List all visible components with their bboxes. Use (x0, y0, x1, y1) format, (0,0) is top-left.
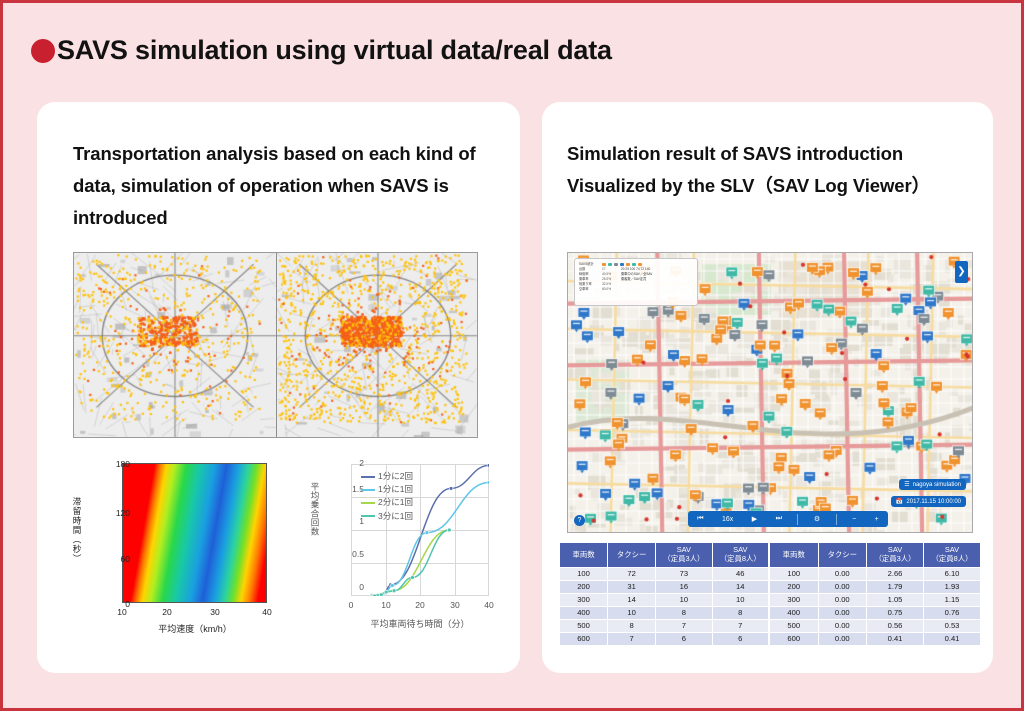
heatmap-xtick-10: 10 (110, 607, 134, 617)
table-row: 300141010 (560, 593, 769, 606)
table-header-cell-1: タクシー (818, 543, 867, 568)
table-cell: 1.79 (867, 580, 924, 593)
table-header-cell-2: SAV（定員3人） (867, 543, 924, 568)
table-cell: 300 (770, 593, 819, 606)
vehicle-icon (608, 263, 612, 266)
table-header-cell-1: タクシー (608, 543, 656, 568)
red-circle-bullet-icon (31, 39, 55, 63)
table-row: 2000.001.791.93 (770, 580, 981, 593)
density-map-right (276, 253, 478, 437)
table-header-line: 車両数 (770, 550, 818, 559)
linechart-xtick-40: 40 (478, 600, 500, 610)
table-header-line: （定員8人） (713, 554, 768, 563)
vehicle-icon (626, 263, 630, 266)
speed-dwell-heatmap: 0 60 120 180 10 20 30 40 滞留時間（秒） 平均速度（km… (67, 457, 282, 647)
legend-item-3: 3分に1回 (361, 510, 413, 523)
table-cell: 500 (770, 619, 819, 632)
table-header-line: SAV (713, 545, 768, 554)
linechart-point (425, 531, 429, 535)
skip-back-icon[interactable]: ⏮ (694, 515, 706, 523)
overlay-stat-row-4: 空車率60.0% (579, 287, 693, 292)
linechart-line-3 (374, 530, 449, 596)
table-row: 4001088 (560, 606, 769, 619)
table-cell: 6 (656, 632, 712, 645)
linechart-ytick-1: 1 (334, 516, 364, 526)
table-cell: 10 (656, 593, 712, 606)
calendar-icon: 📅 (896, 498, 903, 505)
table-cell: 500 (560, 619, 608, 632)
simulation-name-text: nagoya simulation (913, 482, 961, 488)
linechart-point (379, 593, 383, 596)
right-panel: Simulation result of SAVS introduction V… (542, 102, 993, 673)
legend-swatch-icon (361, 476, 375, 478)
table-cell: 100 (770, 567, 819, 580)
vehicle-icon (602, 263, 606, 266)
table-cell: 14 (712, 580, 768, 593)
dual-density-map-figure (73, 252, 478, 438)
table-header-cell-3: SAV（定員8人） (712, 543, 768, 568)
legend-item-1: 1分に1回 (361, 483, 413, 496)
table-header-row: 車両数タクシーSAV（定員3人）SAV（定員8人） (770, 543, 981, 568)
table-row: 3000.001.051.15 (770, 593, 981, 606)
overlay-stat-key: 空車率 (579, 287, 599, 292)
table-header-line: タクシー (819, 550, 867, 559)
page-title: SAVS simulation using virtual data/real … (31, 35, 612, 66)
table-cell: 0.76 (924, 606, 981, 619)
legend-label: 3分に1回 (378, 510, 413, 523)
table-cell: 14 (608, 593, 656, 606)
table-cell: 0.00 (818, 606, 867, 619)
table-cell: 0.00 (818, 567, 867, 580)
chevron-right-icon[interactable]: ❯ (955, 261, 968, 283)
table-cell: 0.00 (818, 632, 867, 645)
table-cell: 8 (712, 606, 768, 619)
table-cell: 8 (608, 619, 656, 632)
table-header-cell-2: SAV（定員3人） (656, 543, 712, 568)
ride-sharing-table: 車両数タクシーSAV（定員3人）SAV（定員8人） 1000.002.666.1… (769, 542, 981, 646)
vehicle-icon (638, 263, 642, 266)
table-cell: 100 (560, 567, 608, 580)
legend-item-2: 2分に1回 (361, 496, 413, 509)
table-cell: 0.00 (818, 593, 867, 606)
table-cell: 400 (770, 606, 819, 619)
linechart-x-axis-label: 平均車両待ち時間（分） (335, 617, 505, 630)
table-cell: 31 (608, 580, 656, 593)
linechart-point (411, 576, 415, 580)
table-cell: 1.15 (924, 593, 981, 606)
linechart-ytick-0: 0 (334, 582, 364, 592)
table-cell: 6 (712, 632, 768, 645)
table-cell: 300 (560, 593, 608, 606)
table-header-line: 車両数 (560, 550, 607, 559)
table-header-line: （定員3人） (867, 554, 923, 563)
table-cell: 0.56 (867, 619, 924, 632)
heatmap-x-axis-label: 平均速度（km/h） (115, 622, 275, 635)
heatmap-ytick-120: 120 (100, 508, 130, 518)
page-title-text: SAVS simulation using virtual data/real … (57, 35, 612, 66)
table-left-body: 1007273462003116143001410104001088500877… (560, 567, 769, 645)
playback-toolbar[interactable]: ⏮ 16x ▶ ⏭ ⚙ − + (688, 511, 888, 527)
table-row: 600766 (560, 632, 769, 645)
slv-map-viewer[interactable]: SAVS統計台数1720 29 100 74 72 140稼働率40.0%乗車中… (567, 252, 973, 533)
table-cell: 0.75 (867, 606, 924, 619)
legend-label: 2分に1回 (378, 496, 413, 509)
heatmap-ytick-180: 180 (100, 459, 130, 469)
heatmap-ytick-60: 60 (100, 554, 130, 564)
waiting-time-ridesharing-linechart: 0 0.5 1 1.5 2 0 10 20 30 40 平均乗合回数 平均車両待… (299, 454, 514, 654)
heatmap-xtick-30: 30 (203, 607, 227, 617)
linechart-point (447, 528, 451, 532)
playback-speed-label[interactable]: 16x (719, 516, 736, 523)
linechart-ytick-1.5: 1.5 (334, 484, 364, 494)
linechart-xtick-20: 20 (409, 600, 431, 610)
density-map-left (74, 253, 276, 437)
linechart-xtick-30: 30 (444, 600, 466, 610)
table-cell: 0.41 (867, 632, 924, 645)
simulation-time-chip[interactable]: 📅 2017.11.15 10:00:00 (891, 496, 966, 507)
linechart-point (384, 590, 388, 594)
legend-swatch-icon (361, 502, 375, 504)
table-cell: 0.00 (818, 580, 867, 593)
table-row: 6000.000.410.41 (770, 632, 981, 645)
table-header-line: （定員8人） (924, 554, 980, 563)
play-icon[interactable]: ▶ (749, 515, 760, 523)
table-row: 5000.000.560.53 (770, 619, 981, 632)
overlay-stat-value: 60.0% (602, 287, 618, 292)
zoom-in-button[interactable]: + (872, 516, 882, 523)
simulation-name-chip[interactable]: ☰ nagoya simulation (899, 479, 966, 490)
linechart-ytick-0.5: 0.5 (334, 549, 364, 559)
gear-icon[interactable]: ⚙ (811, 515, 823, 523)
table-right-body: 1000.002.666.102000.001.791.933000.001.0… (770, 567, 981, 645)
table-cell: 2.66 (867, 567, 924, 580)
linechart-point (487, 464, 489, 467)
question-mark-icon[interactable]: ? (574, 515, 585, 526)
density-map-left-canvas (74, 253, 276, 437)
table-cell: 8 (656, 606, 712, 619)
left-panel-heading: Transportation analysis based on each ki… (73, 138, 503, 233)
legend-swatch-icon (361, 489, 375, 491)
table-cell: 200 (560, 580, 608, 593)
table-cell: 7 (608, 632, 656, 645)
linechart-point (391, 584, 395, 588)
table-header-cell-3: SAV（定員8人） (924, 543, 981, 568)
toolbar-divider (797, 514, 798, 525)
table-header-line: タクシー (608, 550, 655, 559)
table-cell: 46 (712, 567, 768, 580)
linechart-point (373, 594, 377, 596)
table-header-line: SAV (656, 545, 711, 554)
skip-forward-icon[interactable]: ⏭ (773, 515, 785, 523)
list-icon: ☰ (904, 481, 909, 488)
table-header-row: 車両数タクシーSAV（定員3人）SAV（定員8人） (560, 543, 769, 568)
slide-frame: SAVS simulation using virtual data/real … (0, 0, 1024, 711)
linechart-y-axis-label: 平均乗合回数 (309, 482, 321, 536)
simulation-time-text: 2017.11.15 10:00:00 (906, 499, 961, 505)
table-cell: 7 (712, 619, 768, 632)
legend-swatch-icon (361, 515, 375, 517)
savs-statistics-overlay: SAVS統計台数1720 29 100 74 72 140稼働率40.0%乗車中… (574, 258, 698, 306)
density-map-right-canvas (277, 253, 478, 437)
table-cell: 72 (608, 567, 656, 580)
linechart-ytick-2: 2 (334, 458, 364, 468)
table-header-cell-0: 車両数 (770, 543, 819, 568)
table-cell: 10 (608, 606, 656, 619)
table-cell: 0.00 (818, 619, 867, 632)
toolbar-divider-2 (836, 514, 837, 525)
legend-item-0: 1分に2回 (361, 470, 413, 483)
vehicle-icon (632, 263, 636, 266)
table-header-line: （定員3人） (656, 554, 711, 563)
linechart-xtick-0: 0 (340, 600, 362, 610)
table-cell: 600 (770, 632, 819, 645)
table-cell: 200 (770, 580, 819, 593)
table-header-line: SAV (924, 545, 980, 554)
table-cell: 10 (712, 593, 768, 606)
zoom-out-button[interactable]: − (849, 516, 859, 523)
table-row: 4000.000.750.76 (770, 606, 981, 619)
table-cell: 0.41 (924, 632, 981, 645)
vehicle-icon (620, 263, 624, 266)
overlay-stat-note: 乗客数／SAV定員 (621, 277, 646, 282)
waiting-time-table: 車両数タクシーSAV（定員3人）SAV（定員8人） 10072734620031… (559, 542, 769, 646)
legend-label: 1分に1回 (378, 483, 413, 496)
table-cell: 16 (656, 580, 712, 593)
table-cell: 6.10 (924, 567, 981, 580)
vehicle-icon (614, 263, 618, 266)
table-cell: 0.53 (924, 619, 981, 632)
heatmap-xtick-20: 20 (155, 607, 179, 617)
linechart-point (392, 589, 396, 593)
overlay-vehicle-icons (602, 263, 642, 266)
left-panel: Transportation analysis based on each ki… (37, 102, 520, 673)
table-row: 100727346 (560, 567, 769, 580)
table-header-cell-0: 車両数 (560, 543, 608, 568)
heatmap-xtick-40: 40 (255, 607, 279, 617)
linechart-point (449, 487, 453, 491)
table-row: 1000.002.666.10 (770, 567, 981, 580)
heatmap-plot-area (122, 463, 267, 603)
table-row: 500877 (560, 619, 769, 632)
table-cell: 73 (656, 567, 712, 580)
table-cell: 600 (560, 632, 608, 645)
linechart-point (487, 481, 489, 485)
legend-label: 1分に2回 (378, 470, 413, 483)
table-row: 200311614 (560, 580, 769, 593)
heatmap-y-axis-label: 滞留時間（秒） (71, 497, 83, 564)
table-cell: 7 (656, 619, 712, 632)
table-cell: 400 (560, 606, 608, 619)
right-panel-heading: Simulation result of SAVS introduction V… (567, 138, 987, 202)
table-cell: 1.93 (924, 580, 981, 593)
linechart-xtick-10: 10 (375, 600, 397, 610)
table-header-line: SAV (867, 545, 923, 554)
linechart-legend: 1分に2回1分に1回2分に1回3分に1回 (361, 470, 413, 523)
table-cell: 1.05 (867, 593, 924, 606)
